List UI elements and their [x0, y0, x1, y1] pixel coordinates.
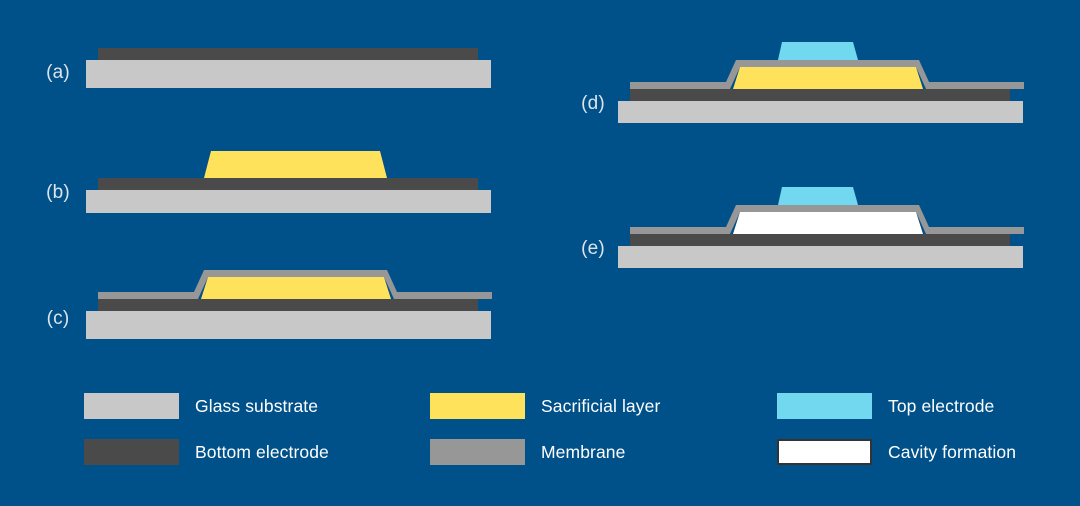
glass-substrate-layer — [86, 190, 491, 213]
sacrificial-layer-trapezoid — [204, 151, 387, 178]
glass-substrate-layer — [618, 246, 1023, 268]
bottom-electrode-layer — [630, 89, 1010, 101]
panel-b-stack — [80, 145, 500, 213]
membrane-base-right — [926, 227, 1024, 234]
top-electrode-trapezoid — [778, 42, 858, 60]
bottom-electrode-layer — [98, 48, 478, 60]
legend-item-top-electrode: Top electrode — [777, 393, 994, 419]
legend-label-glass-substrate: Glass substrate — [195, 396, 318, 417]
legend-item-glass-substrate: Glass substrate — [84, 393, 318, 419]
cavity-formation-region — [733, 212, 923, 234]
bottom-electrode-layer — [98, 299, 478, 311]
membrane-base-right — [394, 292, 492, 299]
panel-d-stack — [612, 38, 1032, 123]
legend-swatch-bottom-electrode — [84, 439, 179, 465]
legend-label-top-electrode: Top electrode — [888, 396, 994, 417]
sacrificial-layer-trapezoid — [201, 277, 391, 299]
panel-label-b: (b) — [37, 182, 79, 204]
legend-item-sacrificial-layer: Sacrificial layer — [430, 393, 660, 419]
membrane-base-left — [630, 227, 730, 234]
legend-item-bottom-electrode: Bottom electrode — [84, 439, 329, 465]
legend-item-cavity-formation: Cavity formation — [777, 439, 1016, 465]
bottom-electrode-layer — [630, 234, 1010, 246]
panel-c-stack — [80, 265, 500, 340]
legend-swatch-membrane — [430, 439, 525, 465]
bottom-electrode-layer — [98, 178, 478, 190]
legend-swatch-sacrificial-layer — [430, 393, 525, 419]
panel-label-a: (a) — [37, 62, 79, 84]
membrane-base-left — [98, 292, 198, 299]
glass-substrate-layer — [86, 60, 491, 88]
legend-label-cavity-formation: Cavity formation — [888, 442, 1016, 463]
legend: Glass substrate Bottom electrode Sacrifi… — [0, 378, 1080, 478]
legend-label-sacrificial-layer: Sacrificial layer — [541, 396, 660, 417]
legend-label-membrane: Membrane — [541, 442, 625, 463]
legend-swatch-cavity-formation — [777, 439, 872, 465]
panel-label-d: (d) — [572, 93, 614, 115]
top-electrode-trapezoid — [778, 187, 858, 205]
glass-substrate-layer — [86, 311, 491, 339]
process-flow-figure: (a) (b) (c) (d) (e) — [0, 0, 1080, 506]
panel-label-e: (e) — [572, 238, 614, 260]
panel-e-stack — [612, 183, 1032, 268]
panel-a-stack — [80, 48, 500, 93]
legend-item-membrane: Membrane — [430, 439, 625, 465]
membrane-base-left — [630, 82, 730, 89]
membrane-base-right — [926, 82, 1024, 89]
legend-label-bottom-electrode: Bottom electrode — [195, 442, 329, 463]
panel-label-c: (c) — [37, 308, 79, 330]
legend-swatch-top-electrode — [777, 393, 872, 419]
sacrificial-layer-trapezoid — [733, 67, 923, 89]
glass-substrate-layer — [618, 101, 1023, 123]
legend-swatch-glass-substrate — [84, 393, 179, 419]
